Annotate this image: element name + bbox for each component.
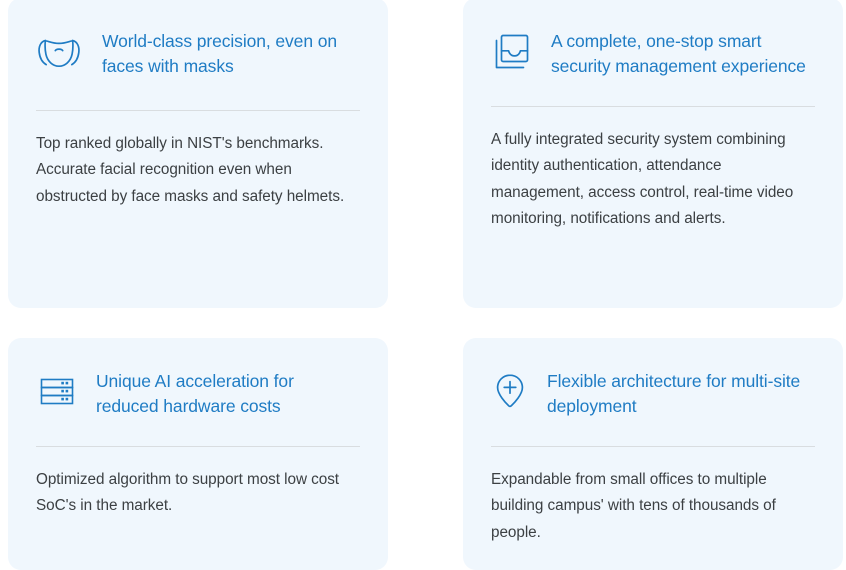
card-body-text: Optimized algorithm to support most low … [36, 447, 360, 520]
card-header: World-class precision, even on faces wit… [36, 28, 360, 84]
card-header: Unique AI acceleration for reduced hardw… [36, 368, 360, 424]
divider-wrap [491, 424, 815, 447]
card-body-text: Top ranked globally in NIST's benchmarks… [36, 111, 360, 210]
feature-card-flexible-architecture[interactable]: Flexible architecture for multi-site dep… [463, 338, 843, 570]
card-body-text: A fully integrated security system combi… [491, 107, 815, 232]
card-title: Flexible architecture for multi-site dep… [547, 368, 815, 419]
feature-card-world-class-precision[interactable]: World-class precision, even on faces wit… [8, 0, 388, 308]
divider-wrap [491, 84, 815, 107]
card-header: Flexible architecture for multi-site dep… [491, 368, 815, 424]
card-title: World-class precision, even on faces wit… [102, 28, 360, 79]
server-rack-icon [36, 370, 78, 414]
card-title: A complete, one-stop smart security mana… [551, 28, 815, 79]
face-mask-icon [34, 30, 84, 74]
feature-card-unique-ai-acceleration[interactable]: Unique AI acceleration for reduced hardw… [8, 338, 388, 570]
divider-wrap [36, 424, 360, 447]
inbox-tray-icon [491, 30, 533, 74]
feature-card-grid: World-class precision, even on faces wit… [0, 0, 846, 568]
feature-card-one-stop-smart-security[interactable]: A complete, one-stop smart security mana… [463, 0, 843, 308]
card-header: A complete, one-stop smart security mana… [491, 28, 815, 84]
divider-wrap [36, 84, 360, 111]
card-body-text: Expandable from small offices to multipl… [491, 447, 815, 546]
map-pin-plus-icon [491, 370, 529, 414]
card-title: Unique AI acceleration for reduced hardw… [96, 368, 360, 419]
